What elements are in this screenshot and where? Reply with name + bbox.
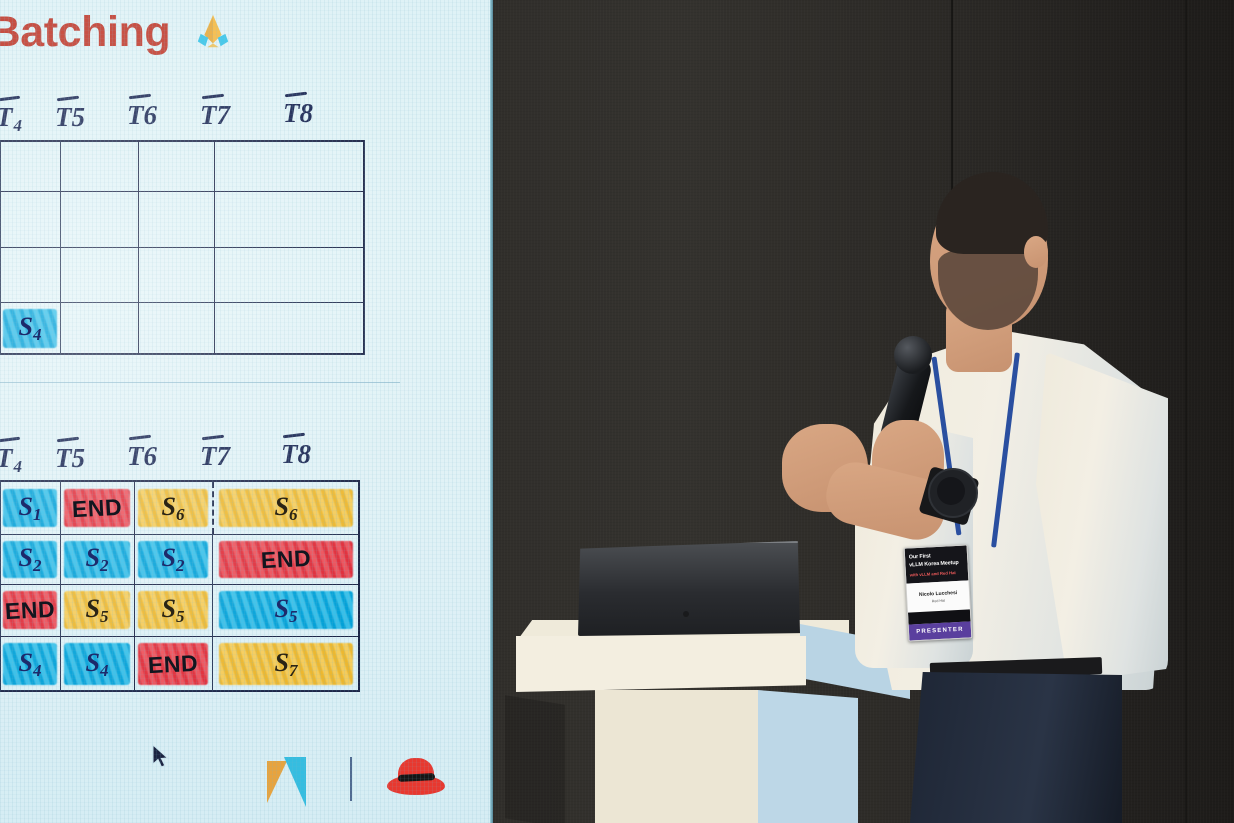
cell-upper-r4-c1: S4: [0, 302, 60, 355]
podium-shadow: [505, 695, 565, 823]
col-header-4-lower: T4: [0, 443, 22, 477]
col-header-t6-upper: T6: [127, 100, 157, 131]
cell-lower-r3-c4: S5: [212, 584, 360, 636]
badge-line-1: Our First: [909, 553, 931, 560]
presenter-ear: [1024, 236, 1048, 268]
badge-role-band: PRESENTER: [909, 622, 972, 641]
col-header-t8-upper: T8: [283, 98, 313, 129]
cell-lower-r3-c2: S5: [60, 584, 134, 636]
podium-column-side: [758, 690, 858, 823]
cell-lower-r2-c1: S2: [0, 534, 60, 584]
cell-lower-r1-c2: END: [60, 482, 134, 534]
slide-divider: [0, 382, 400, 383]
cell-lower-r2-c2: S2: [60, 534, 134, 584]
cell-lower-r1-c4: S6: [212, 482, 360, 534]
screenshot-root: ative Batching T4 T5 T6: [0, 0, 1234, 823]
lower-table-grid: S1 END S6 S6 2 S2 S2 S2 END 3: [0, 480, 360, 692]
screen-right-edge: [490, 0, 493, 823]
badge-name-area: Nicolo Lucchesi Red Hat: [906, 580, 969, 613]
cell-lower-r1-c3: S6: [134, 482, 212, 534]
slide-title-text: ative Batching: [0, 8, 170, 56]
slide-title: ative Batching: [0, 8, 232, 57]
cell-lower-r3-c3: S5: [134, 584, 212, 636]
col-header-t5-upper: T5: [55, 102, 85, 133]
podium-column: [595, 690, 758, 823]
col-header-t8-lower: T8: [281, 439, 311, 470]
vllm-logo: [267, 757, 319, 807]
microphone-head: [894, 336, 932, 374]
cell-lower-r1-c1: S1: [0, 482, 60, 534]
badge-org: Red Hat: [907, 597, 969, 604]
col-header-t7-upper: T7: [200, 100, 230, 131]
red-hat-fedora-logo: [387, 758, 445, 800]
pray-emoji: [194, 12, 232, 52]
projection-screen: ative Batching T4 T5 T6: [0, 0, 493, 823]
cell-lower-r2-c4: END: [212, 534, 360, 584]
watch-dial: [937, 477, 965, 505]
col-header-4-upper: T4: [0, 102, 22, 136]
wall-seam-2: [1185, 0, 1187, 823]
upper-table-grid: 3 4 S4: [0, 140, 365, 355]
presenter-pants: [910, 672, 1122, 823]
lower-table-headers: T4 T5 T6 T7 T8: [0, 437, 420, 483]
cell-lower-r4-c3: END: [134, 636, 212, 692]
col-header-t7-lower: T7: [200, 441, 230, 472]
cell-lower-r3-c1: END: [0, 584, 60, 636]
cell-lower-r4-c2: S4: [60, 636, 134, 692]
upper-table-headers: T4 T5 T6 T7 T8: [0, 96, 420, 142]
logo-divider: [350, 757, 352, 801]
podium-front-face: [516, 636, 806, 692]
col-header-t6-lower: T6: [127, 441, 157, 472]
badge-role: PRESENTER: [916, 627, 964, 635]
presenter-badge: Our First vLLM Korea Meetup with vLLM an…: [904, 544, 973, 641]
laptop-lid: [578, 541, 800, 636]
cell-lower-r2-c3: S2: [134, 534, 212, 584]
col-header-t5-lower: T5: [55, 443, 85, 474]
cell-lower-r4-c4: S7: [212, 636, 360, 692]
cell-lower-r4-c1: S4: [0, 636, 60, 692]
